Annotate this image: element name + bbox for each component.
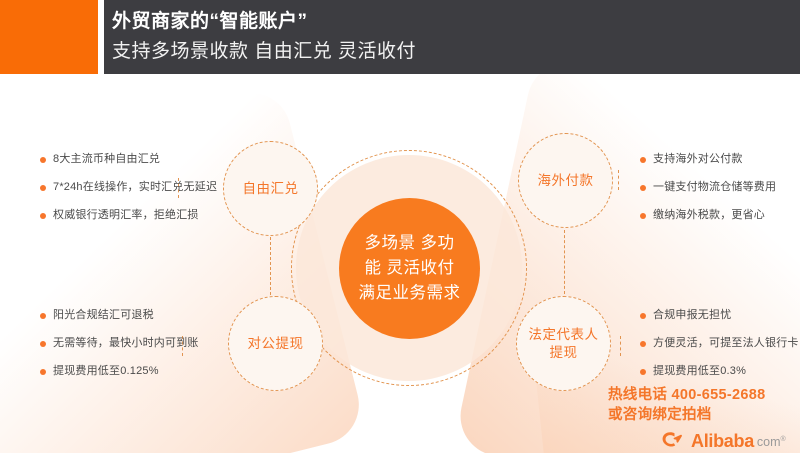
- node-legal-rep-withdraw-label: 法定代表人 提现: [529, 326, 599, 362]
- connector-right: [564, 230, 565, 294]
- list-item-label: 支持海外对公付款: [653, 152, 743, 167]
- center-core-line2: 能 灵活收付: [351, 256, 469, 281]
- list-item: 提现费用低至0.3%: [640, 364, 799, 379]
- list-item-label: 提现费用低至0.3%: [653, 364, 746, 379]
- bullet-dot-icon: [640, 369, 646, 375]
- header-title-line2: 支持多场景收款 自由汇兑 灵活收付: [112, 37, 772, 67]
- list-item: 8大主流币种自由汇兑: [40, 152, 217, 167]
- list-item: 缴纳海外税款，更省心: [640, 208, 776, 223]
- bullet-list-top-left: 8大主流币种自由汇兑 7*24h在线操作，实时汇兑无延迟 权威银行透明汇率，拒绝…: [40, 152, 217, 236]
- alibaba-domain-suffix: com®: [757, 430, 786, 452]
- node-legal-rep-withdraw[interactable]: 法定代表人 提现: [516, 296, 611, 391]
- center-core-line1: 多场景 多功: [351, 231, 469, 256]
- bullet-list-bottom-right: 合规申报无担忧 方便灵活，可提至法人银行卡 提现费用低至0.3%: [640, 308, 799, 392]
- connector-left: [270, 237, 271, 295]
- bullet-list-bottom-left: 阳光合规结汇可退税 无需等待，最快小时内可到账 提现费用低至0.125%: [40, 308, 199, 392]
- list-item: 阳光合规结汇可退税: [40, 308, 199, 323]
- list-item: 7*24h在线操作，实时汇兑无延迟: [40, 180, 217, 195]
- bullet-dot-icon: [40, 157, 46, 163]
- alibaba-logo: Alibaba com®: [662, 430, 786, 452]
- node-corporate-withdraw[interactable]: 对公提现: [228, 296, 323, 391]
- list-item: 合规申报无担忧: [640, 308, 799, 323]
- node-legal-rep-withdraw-line1: 法定代表人: [529, 326, 599, 344]
- center-core-text: 多场景 多功 能 灵活收付 满足业务需求: [351, 231, 469, 306]
- bullet-dot-icon: [640, 185, 646, 191]
- bullet-dot-icon: [640, 213, 646, 219]
- hotline-block: 热线电话 400-655-2688 或咨询绑定拍档: [608, 385, 765, 425]
- list-item-label: 一键支付物流仓储等费用: [653, 180, 776, 195]
- bullet-dot-icon: [640, 341, 646, 347]
- hotline-subtext: 或咨询绑定拍档: [608, 405, 765, 425]
- hub-and-spoke-diagram: 多场景 多功 能 灵活收付 满足业务需求 自由汇兑 海外付款 对公提现 法定代表…: [0, 74, 800, 453]
- bullet-dot-icon: [40, 369, 46, 375]
- node-corporate-withdraw-label: 对公提现: [248, 335, 304, 353]
- slide-canvas: 外贸商家的“智能账户” 支持多场景收款 自由汇兑 灵活收付 多场景 多功 能 灵…: [0, 0, 800, 453]
- list-item: 支持海外对公付款: [640, 152, 776, 167]
- list-item: 权威银行透明汇率，拒绝汇损: [40, 208, 217, 223]
- alibaba-wordmark: Alibaba: [691, 431, 754, 451]
- list-item-label: 合规申报无担忧: [653, 308, 731, 323]
- list-item-label: 权威银行透明汇率，拒绝汇损: [53, 208, 199, 223]
- list-item: 方便灵活，可提至法人银行卡: [640, 336, 799, 351]
- bullet-dot-icon: [640, 313, 646, 319]
- bullet-dot-icon: [640, 157, 646, 163]
- list-item: 无需等待，最快小时内可到账: [40, 336, 199, 351]
- node-free-exchange-label: 自由汇兑: [243, 180, 299, 198]
- hotline-phone: 热线电话 400-655-2688: [608, 385, 765, 405]
- list-item-label: 提现费用低至0.125%: [53, 364, 159, 379]
- list-item-label: 8大主流币种自由汇兑: [53, 152, 160, 167]
- bullet-dot-icon: [40, 213, 46, 219]
- list-item-label: 无需等待，最快小时内可到账: [53, 336, 199, 351]
- header-text-group: 外贸商家的“智能账户” 支持多场景收款 自由汇兑 灵活收付: [112, 6, 772, 67]
- center-core-circle: 多场景 多功 能 灵活收付 满足业务需求: [339, 198, 480, 339]
- node-legal-rep-withdraw-line2: 提现: [529, 344, 599, 362]
- node-overseas-payment[interactable]: 海外付款: [518, 133, 613, 228]
- node-free-exchange[interactable]: 自由汇兑: [223, 141, 318, 236]
- list-item-label: 7*24h在线操作，实时汇兑无延迟: [53, 180, 217, 195]
- center-core-line3: 满足业务需求: [351, 281, 469, 306]
- bullet-list-top-right: 支持海外对公付款 一键支付物流仓储等费用 缴纳海外税款，更省心: [640, 152, 776, 236]
- bullet-dot-icon: [40, 313, 46, 319]
- list-item: 提现费用低至0.125%: [40, 364, 199, 379]
- header-title-line1: 外贸商家的“智能账户”: [112, 6, 772, 37]
- bullet-dot-icon: [40, 185, 46, 191]
- list-item: 一键支付物流仓储等费用: [640, 180, 776, 195]
- connector-stub-bottom-right: [620, 336, 621, 356]
- connector-stub-top-right: [618, 170, 619, 190]
- list-item-label: 阳光合规结汇可退税: [53, 308, 154, 323]
- header-accent-block: [0, 0, 98, 74]
- list-item-label: 方便灵活，可提至法人银行卡: [653, 336, 799, 351]
- header-banner: 外贸商家的“智能账户” 支持多场景收款 自由汇兑 灵活收付: [0, 0, 800, 74]
- alibaba-mark-icon: [662, 431, 688, 451]
- list-item-label: 缴纳海外税款，更省心: [653, 208, 765, 223]
- node-overseas-payment-label: 海外付款: [538, 172, 594, 190]
- bullet-dot-icon: [40, 341, 46, 347]
